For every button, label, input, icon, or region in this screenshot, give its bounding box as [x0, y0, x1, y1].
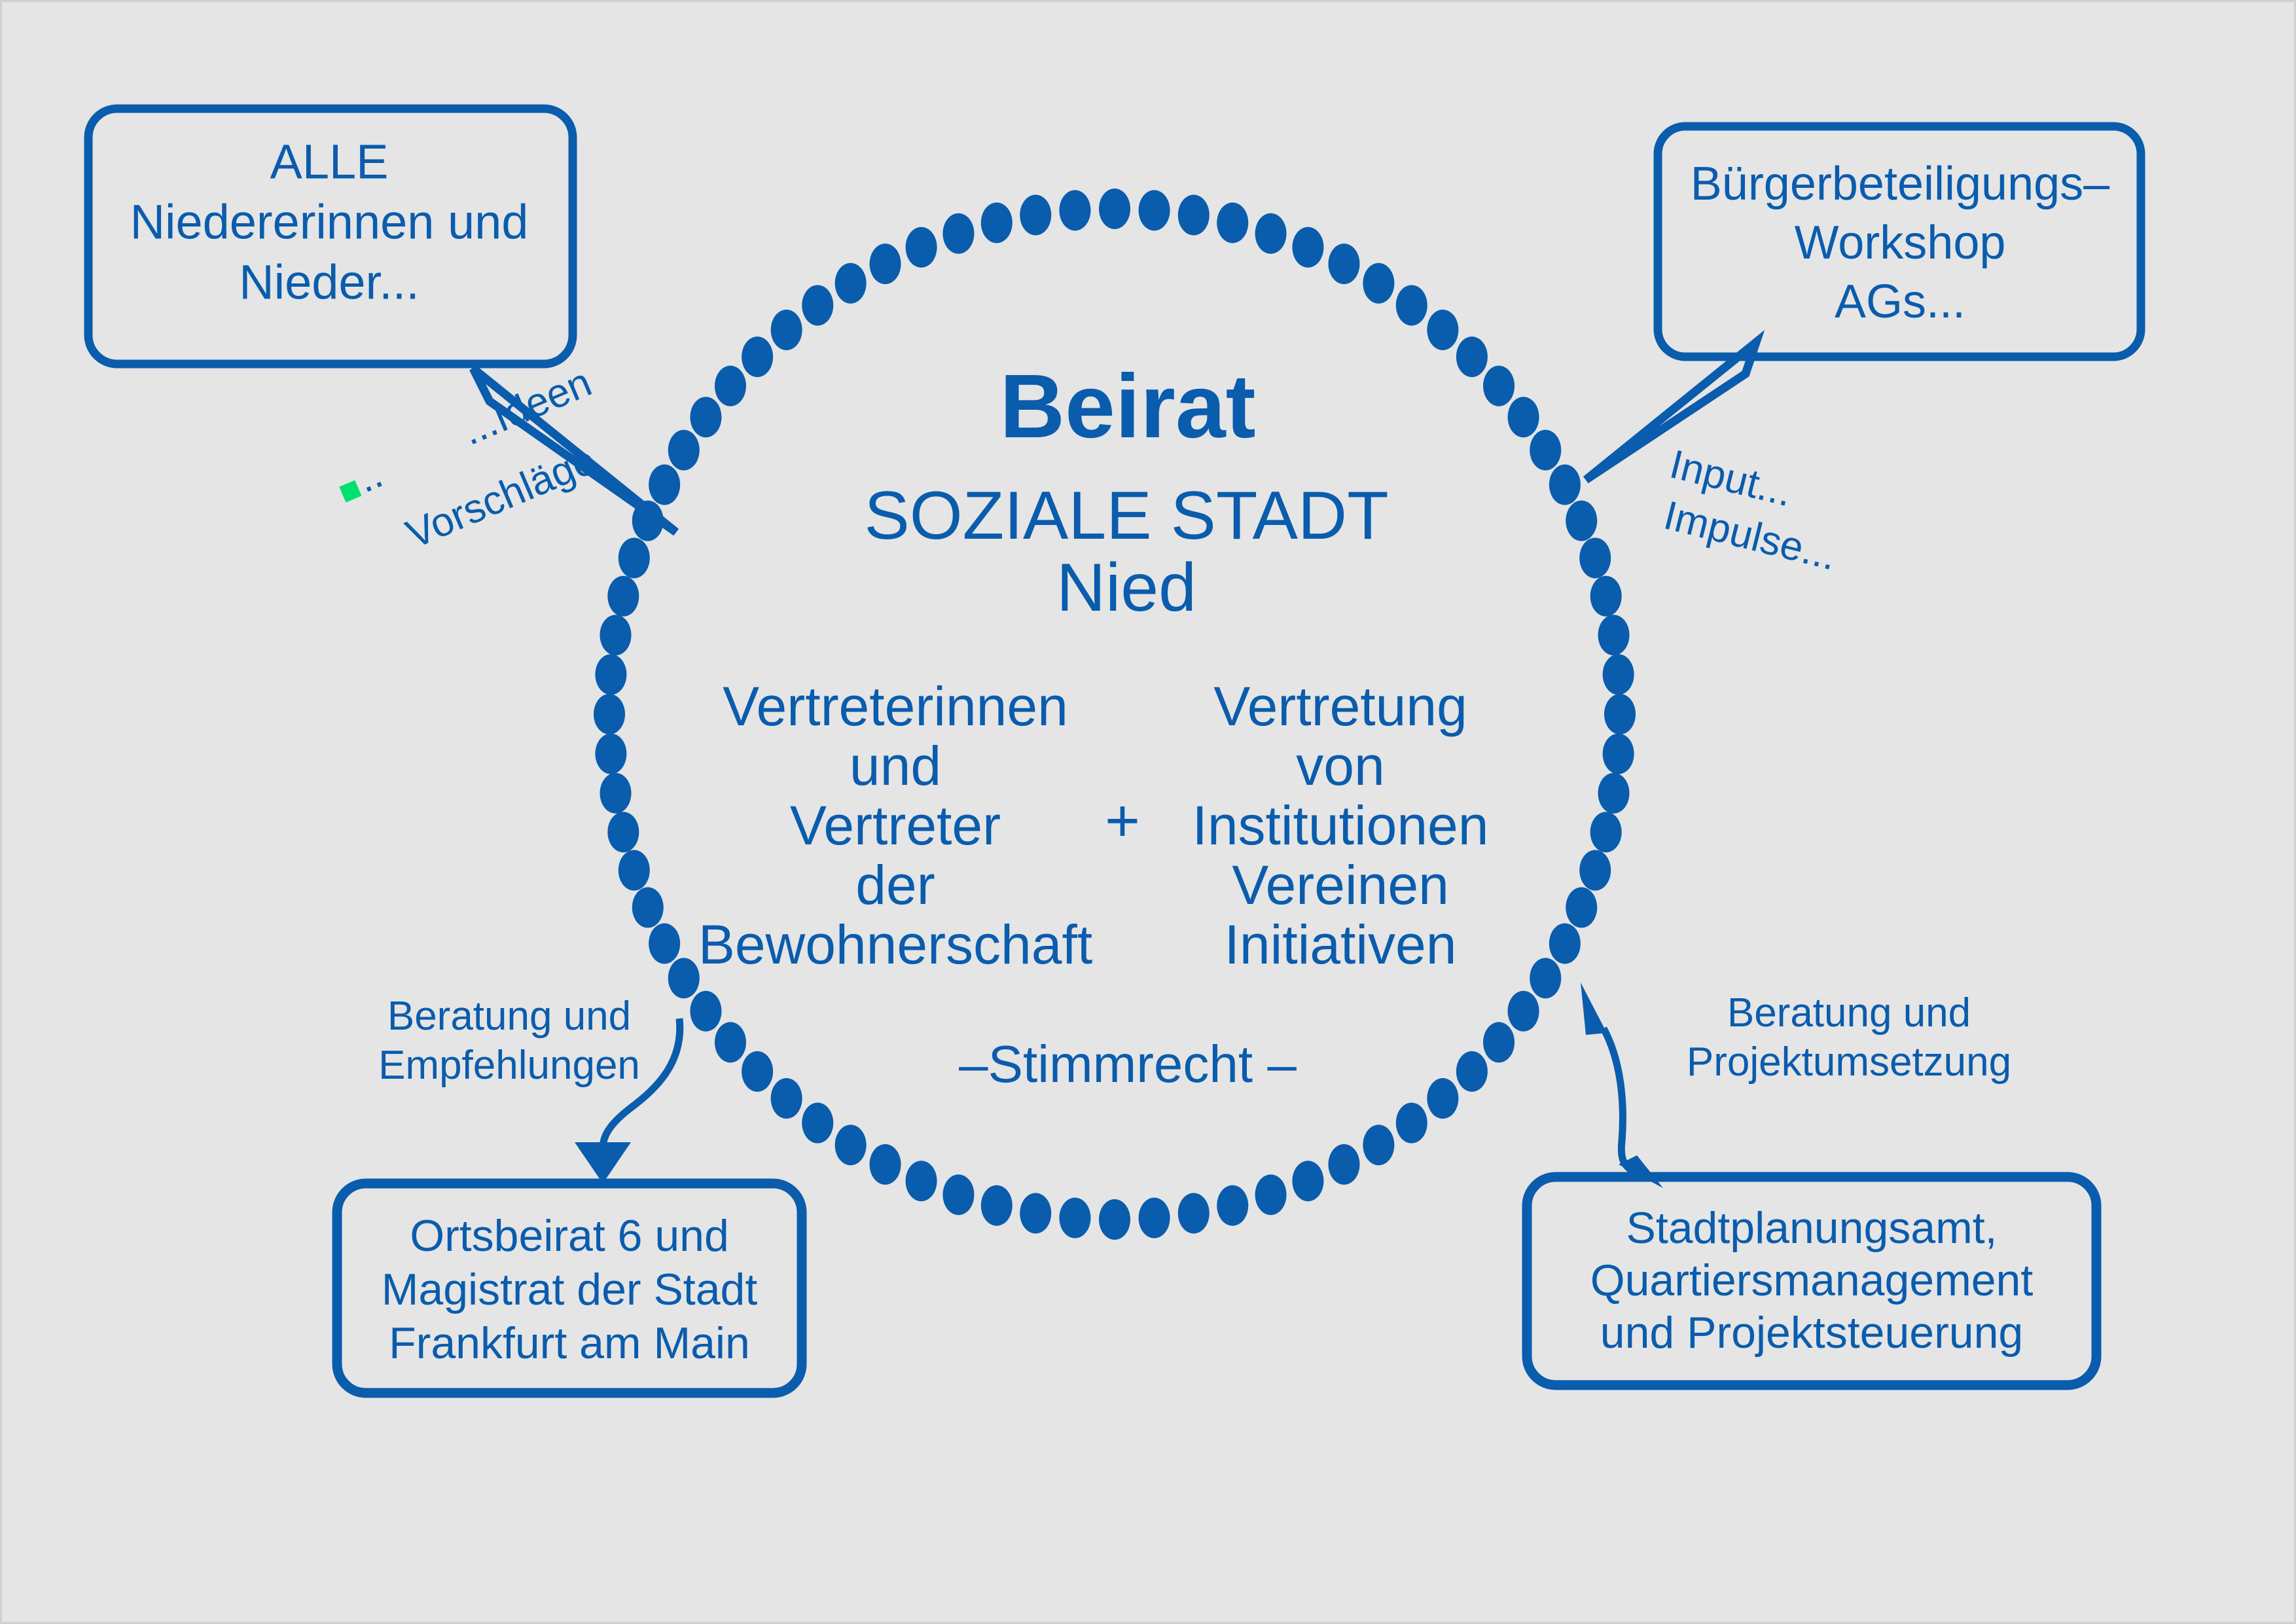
ring-dot: [1598, 615, 1630, 655]
ring-dot: [1456, 1051, 1488, 1092]
ring-dot: [1139, 190, 1170, 230]
diagram-svg: Beirat SOZIALE STADT Nied Vertreterinnen…: [2, 2, 2296, 1624]
ring-dot: [715, 1022, 746, 1062]
speech-bubble-top-right-line-3: AGs...: [1835, 276, 1965, 328]
ring-dot: [715, 366, 746, 406]
ring-dot: [1255, 213, 1287, 254]
box-stadtplanungsamt-line-1: Stadtplanungsamt,: [1626, 1203, 1997, 1253]
arrow-up-head: [1581, 983, 1607, 1035]
box-ortsbeirat-line-3: Frankfurt am Main: [389, 1318, 750, 1368]
center-title: Beirat: [999, 356, 1255, 457]
ring-dot: [1020, 195, 1051, 236]
ring-dot: [649, 923, 680, 964]
ring-dot: [835, 263, 867, 304]
label-ideen-vorschlaege: .. ...Ideen Vorschläge: [331, 359, 627, 575]
center-cluster: Beirat SOZIALE STADT Nied Vertreterinnen…: [698, 356, 1489, 1093]
box-ortsbeirat-line-1: Ortsbeirat 6 und: [410, 1211, 729, 1261]
ring-dot: [771, 1078, 802, 1119]
ring-dot: [1549, 465, 1581, 505]
left-column-line-3: Vertreter: [790, 795, 1001, 856]
label-beratung-und-right: Beratung und: [1727, 990, 1971, 1036]
ring-dot: [1456, 336, 1488, 377]
ring-dot: [870, 1144, 901, 1185]
ring-dot: [1217, 202, 1248, 243]
ring-dot: [771, 310, 802, 350]
stimmrecht-footer: –Stimmrecht –: [959, 1035, 1297, 1093]
arrow-to-ortsbeirat-head: [575, 1142, 631, 1183]
ring-dot: [1598, 773, 1630, 814]
ring-dot: [668, 958, 700, 998]
right-column-line-3: Institutionen: [1193, 795, 1489, 856]
green-accent-dot: [339, 480, 361, 503]
ring-dot: [1217, 1185, 1248, 1226]
ring-dot: [1363, 1125, 1394, 1165]
ring-dot: [632, 887, 664, 928]
label-vorschlaege: Vorschläge: [400, 437, 602, 557]
ring-dot: [1427, 310, 1458, 350]
label-beratung-empfehlungen: Beratung und Empfehlungen: [378, 994, 640, 1088]
ring-dot: [1099, 189, 1130, 229]
ring-dot: [1427, 1078, 1458, 1119]
ring-dot: [600, 615, 632, 655]
ring-dot: [1178, 1193, 1210, 1234]
label-beratung-und: Beratung und: [387, 994, 631, 1039]
label-input-impulse: Input... Impulse...: [1653, 442, 1854, 579]
ring-dot: [1530, 430, 1561, 471]
ring-dot: [1508, 991, 1539, 1032]
ring-dot: [1483, 1022, 1515, 1062]
right-column-line-4: Vereinen: [1232, 854, 1449, 916]
left-column-line-1: Vertreterinnen: [723, 676, 1068, 737]
ring-dot: [1099, 1199, 1130, 1240]
ring-dot: [1396, 285, 1427, 325]
speech-bubble-top-left-line-2: Niedererinnen und: [130, 195, 529, 249]
box-stadtplanungsamt-line-3: und Projektsteuerung: [1600, 1308, 2023, 1358]
ring-dot: [619, 537, 650, 578]
ring-dot: [1396, 1103, 1427, 1144]
ring-dot: [835, 1125, 867, 1165]
ring-dot: [742, 336, 773, 377]
ring-dot: [981, 1185, 1013, 1226]
right-column-line-2: von: [1296, 735, 1384, 797]
box-ortsbeirat-line-2: Magistrat der Stadt: [382, 1265, 758, 1314]
ring-dot: [668, 430, 700, 471]
right-column-line-5: Initiativen: [1225, 914, 1457, 975]
ring-dot: [1590, 812, 1622, 852]
box-stadtplanungsamt-line-2: Quartiersmanagement: [1590, 1255, 2034, 1305]
ring-dot: [742, 1051, 773, 1092]
right-column-line-1: Vertretung: [1213, 676, 1467, 737]
center-subtitle-line2: Nied: [1056, 550, 1196, 626]
ring-dot: [1363, 263, 1394, 304]
arrow-double-curve: [1604, 1028, 1634, 1172]
ring-dot: [1059, 1198, 1090, 1238]
ring-dot: [1579, 850, 1611, 891]
ring-dot: [906, 227, 937, 268]
ring-dot: [1178, 195, 1210, 236]
speech-bubble-top-left-line-3: Nieder...: [239, 255, 420, 310]
ring-dot: [802, 285, 833, 325]
ring-dot: [1603, 654, 1634, 695]
ring-dot: [1590, 576, 1622, 617]
ring-dot: [1292, 227, 1323, 268]
ring-dot: [1508, 397, 1539, 437]
left-column-line-2: und: [850, 735, 941, 797]
ring-dot: [595, 654, 626, 695]
ring-dot: [1549, 923, 1581, 964]
speech-bubble-top-right[interactable]: Bürgerbeteiligungs– Workshop AGs...: [1586, 126, 2141, 480]
ring-dot: [942, 1174, 974, 1215]
ring-dot: [906, 1161, 937, 1201]
left-column-line-4: der: [855, 854, 935, 916]
diagram-canvas: Beirat SOZIALE STADT Nied Vertreterinnen…: [0, 0, 2296, 1624]
ring-dot: [1603, 734, 1634, 774]
ring-dot: [1483, 366, 1515, 406]
ring-dot: [1566, 887, 1597, 928]
ring-dot: [1139, 1198, 1170, 1238]
label-projektumsetzung: Projektumsetzung: [1687, 1039, 2011, 1085]
label-empfehlungen: Empfehlungen: [378, 1043, 640, 1088]
ring-dot: [981, 202, 1013, 243]
label-beratung-projektumsetzung: Beratung und Projektumsetzung: [1687, 990, 2011, 1085]
ring-dot: [1530, 958, 1561, 998]
ring-dot: [1579, 537, 1611, 578]
ring-dot: [1328, 244, 1359, 284]
ring-dot: [607, 576, 639, 617]
ring-dot: [870, 244, 901, 284]
ring-dot: [690, 397, 721, 437]
ring-dot: [1566, 501, 1597, 541]
center-subtitle-line1: SOZIALE STADT: [864, 478, 1388, 554]
ring-dot: [802, 1103, 833, 1144]
left-column-line-5: Bewohnerschaft: [698, 914, 1092, 975]
speech-bubble-top-left-line-1: ALLE: [270, 135, 388, 189]
ring-dot: [607, 812, 639, 852]
plus-sign: +: [1105, 787, 1140, 854]
ring-dot: [1292, 1161, 1323, 1201]
ring-dot: [600, 773, 632, 814]
ring-dot: [619, 850, 650, 891]
ring-dot: [1328, 1144, 1359, 1185]
ring-dot: [595, 734, 626, 774]
box-stadtplanungsamt[interactable]: Stadtplanungsamt, Quartiersmanagement un…: [1527, 1177, 2096, 1385]
speech-bubble-top-right-line-2: Workshop: [1795, 217, 2006, 269]
ring-dot: [1059, 190, 1090, 230]
ring-dot: [1020, 1193, 1051, 1234]
speech-bubble-top-right-line-1: Bürgerbeteiligungs–: [1691, 158, 2110, 210]
box-ortsbeirat[interactable]: Ortsbeirat 6 und Magistrat der Stadt Fra…: [337, 1183, 802, 1393]
ring-dot: [690, 991, 721, 1032]
ring-dot: [1604, 694, 1636, 734]
ring-dot: [649, 465, 680, 505]
arrow-double-stadtplanungsamt: [1581, 983, 1663, 1188]
ring-dot: [594, 694, 625, 734]
ring-dot: [942, 213, 974, 254]
ring-dot: [1255, 1174, 1287, 1215]
